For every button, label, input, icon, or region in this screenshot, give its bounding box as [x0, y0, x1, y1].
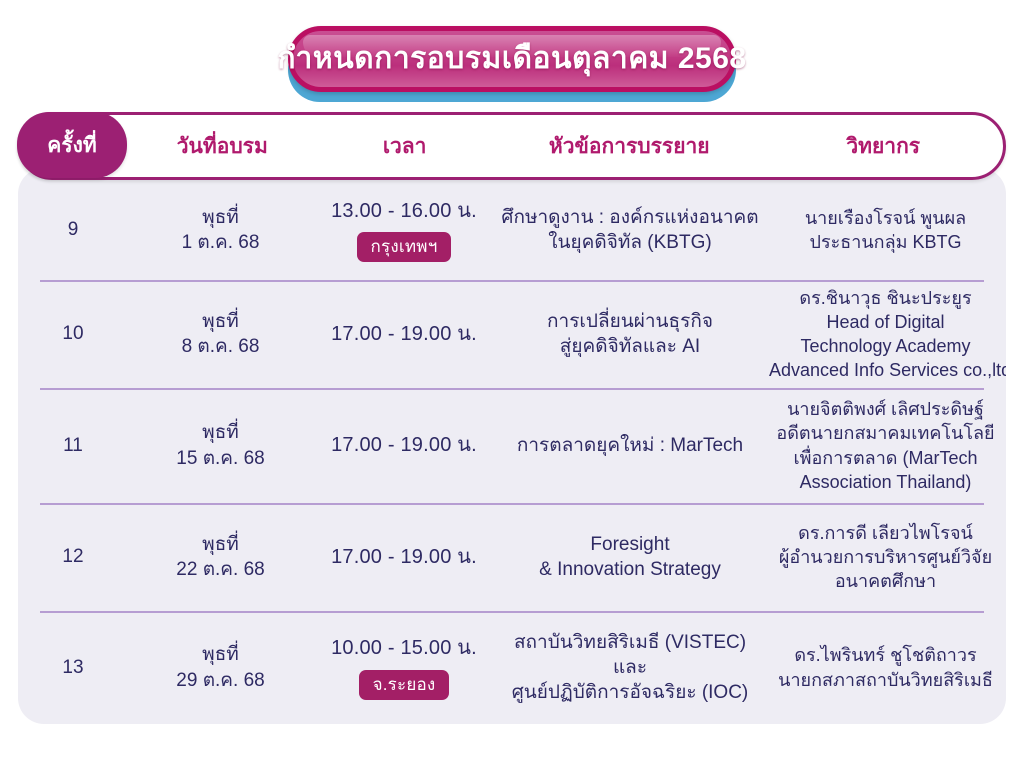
speaker-line: อนาคตศึกษา — [769, 569, 1002, 593]
topic-line: & Innovation Strategy — [499, 557, 761, 582]
topic-line: การตลาดยุคใหม่ : MarTech — [499, 433, 761, 458]
column-header-topic: หัวข้อการบรรยาย — [495, 136, 763, 157]
cell-date: พุธที่15 ต.ค. 68 — [128, 414, 313, 477]
location-badge: จ.ระยอง — [359, 670, 450, 700]
topic-line: สู่ยุคดิจิทัลและ AI — [499, 334, 761, 359]
cell-session-number: 10 — [18, 315, 128, 352]
time-range: 13.00 - 16.00 น. — [317, 198, 491, 225]
cell-topic: สถาบันวิทยสิริเมธี (VISTEC) และศูนย์ปฏิบ… — [495, 624, 765, 712]
table-row: 12พุธที่22 ต.ค. 6817.00 - 19.00 น.Foresi… — [18, 503, 1006, 611]
date-value: 8 ต.ค. 68 — [132, 334, 309, 359]
date-value: 15 ต.ค. 68 — [132, 446, 309, 471]
topic-line: สถาบันวิทยสิริเมธี (VISTEC) และ — [499, 630, 761, 681]
table-row: 11พุธที่15 ต.ค. 6817.00 - 19.00 น.การตลา… — [18, 388, 1006, 503]
cell-time: 10.00 - 15.00 น.จ.ระยอง — [313, 629, 495, 706]
time-range: 10.00 - 15.00 น. — [317, 635, 491, 662]
cell-session-number: 13 — [18, 649, 128, 686]
title-banner: กำหนดการอบรมเดือนตุลาคม 2568 — [288, 26, 736, 92]
speaker-line: ดร.ชินาวุธ ชินะประยูร — [769, 286, 1002, 310]
speaker-line: เพื่อการตลาด (MarTech — [769, 446, 1002, 470]
location-badge: กรุงเทพฯ — [357, 232, 452, 262]
cell-date: พุธที่8 ต.ค. 68 — [128, 303, 313, 366]
speaker-line: อดีตนายกสมาคมเทคโนโลยี — [769, 421, 1002, 445]
cell-speaker: ดร.ไพรินทร์ ชูโชติถาวรนายกสภาสถาบันวิทยส… — [765, 637, 1006, 697]
date-weekday: พุธที่ — [132, 532, 309, 557]
speaker-line: ดร.การดี เลียวไพโรจน์ — [769, 521, 1002, 545]
speaker-line: ผู้อำนวยการบริหารศูนย์วิจัย — [769, 545, 1002, 569]
speaker-line: Association Thailand) — [769, 470, 1002, 494]
table-rows: 9พุธที่1 ต.ค. 6813.00 - 16.00 น.กรุงเทพฯ… — [18, 180, 1006, 724]
cell-date: พุธที่22 ต.ค. 68 — [128, 526, 313, 589]
speaker-line: นายกสภาสถาบันวิทยสิริเมธี — [769, 668, 1002, 692]
cell-speaker: นายเรืองโรจน์ พูนผลประธานกลุ่ม KBTG — [765, 200, 1006, 260]
time-range: 17.00 - 19.00 น. — [317, 321, 491, 348]
date-weekday: พุธที่ — [132, 309, 309, 334]
date-value: 1 ต.ค. 68 — [132, 230, 309, 255]
column-header-date: วันที่อบรม — [130, 136, 314, 157]
cell-topic: การตลาดยุคใหม่ : MarTech — [495, 427, 765, 464]
speaker-line: นายจิตติพงศ์ เลิศประดิษฐ์ — [769, 397, 1002, 421]
cell-session-number: 12 — [18, 538, 128, 575]
cell-time: 17.00 - 19.00 น. — [313, 315, 495, 354]
cell-speaker: นายจิตติพงศ์ เลิศประดิษฐ์อดีตนายกสมาคมเท… — [765, 391, 1006, 499]
table-row: 13พุธที่29 ต.ค. 6810.00 - 15.00 น.จ.ระยอ… — [18, 611, 1006, 724]
cell-date: พุธที่29 ต.ค. 68 — [128, 636, 313, 699]
topic-line: ในยุคดิจิทัล (KBTG) — [499, 230, 761, 255]
date-weekday: พุธที่ — [132, 642, 309, 667]
speaker-line: Head of Digital — [769, 310, 1002, 334]
date-value: 22 ต.ค. 68 — [132, 557, 309, 582]
speaker-line: ดร.ไพรินทร์ ชูโชติถาวร — [769, 643, 1002, 667]
cell-date: พุธที่1 ต.ค. 68 — [128, 199, 313, 262]
topic-line: ศูนย์ปฏิบัติการอัจฉริยะ (IOC) — [499, 680, 761, 705]
cell-time: 13.00 - 16.00 น.กรุงเทพฯ — [313, 192, 495, 269]
topic-line: Foresight — [499, 532, 761, 557]
page-title: กำหนดการอบรมเดือนตุลาคม 2568 — [277, 44, 746, 74]
schedule-table: 9พุธที่1 ต.ค. 6813.00 - 16.00 น.กรุงเทพฯ… — [18, 112, 1006, 724]
table-header-row: วันที่อบรม เวลา หัวข้อการบรรยาย วิทยากร — [18, 112, 1006, 180]
title-banner-area: กำหนดการอบรมเดือนตุลาคม 2568 — [0, 22, 1024, 108]
column-header-time: เวลา — [314, 136, 495, 157]
topic-line: การเปลี่ยนผ่านธุรกิจ — [499, 309, 761, 334]
table-body-panel: 9พุธที่1 ต.ค. 6813.00 - 16.00 น.กรุงเทพฯ… — [18, 168, 1006, 724]
time-range: 17.00 - 19.00 น. — [317, 432, 491, 459]
date-weekday: พุธที่ — [132, 420, 309, 445]
date-value: 29 ต.ค. 68 — [132, 668, 309, 693]
cell-topic: การเปลี่ยนผ่านธุรกิจสู่ยุคดิจิทัลและ AI — [495, 303, 765, 366]
cell-topic: Foresight& Innovation Strategy — [495, 526, 765, 589]
schedule-poster: กำหนดการอบรมเดือนตุลาคม 2568 9พุธที่1 ต.… — [0, 0, 1024, 765]
cell-speaker: ดร.ชินาวุธ ชินะประยูรHead of DigitalTech… — [765, 280, 1006, 388]
cell-speaker: ดร.การดี เลียวไพโรจน์ผู้อำนวยการบริหารศู… — [765, 515, 1006, 599]
date-weekday: พุธที่ — [132, 205, 309, 230]
cell-time: 17.00 - 19.00 น. — [313, 426, 495, 465]
column-header-number: ครั้งที่ — [17, 112, 127, 178]
cell-topic: ศึกษาดูงาน : องค์กรแห่งอนาคตในยุคดิจิทัล… — [495, 199, 765, 262]
table-row: 10พุธที่8 ต.ค. 6817.00 - 19.00 น.การเปลี… — [18, 280, 1006, 388]
speaker-line: Technology Academy — [769, 334, 1002, 358]
speaker-line: ประธานกลุ่ม KBTG — [769, 230, 1002, 254]
cell-session-number: 9 — [18, 211, 128, 248]
cell-time: 17.00 - 19.00 น. — [313, 538, 495, 577]
time-range: 17.00 - 19.00 น. — [317, 544, 491, 571]
cell-session-number: 11 — [18, 427, 128, 464]
table-row: 9พุธที่1 ต.ค. 6813.00 - 16.00 น.กรุงเทพฯ… — [18, 180, 1006, 280]
speaker-line: นายเรืองโรจน์ พูนผล — [769, 206, 1002, 230]
topic-line: ศึกษาดูงาน : องค์กรแห่งอนาคต — [499, 205, 761, 230]
column-header-speaker: วิทยากร — [763, 136, 1003, 157]
speaker-line: Advanced Info Services co.,ltd — [769, 358, 1002, 382]
